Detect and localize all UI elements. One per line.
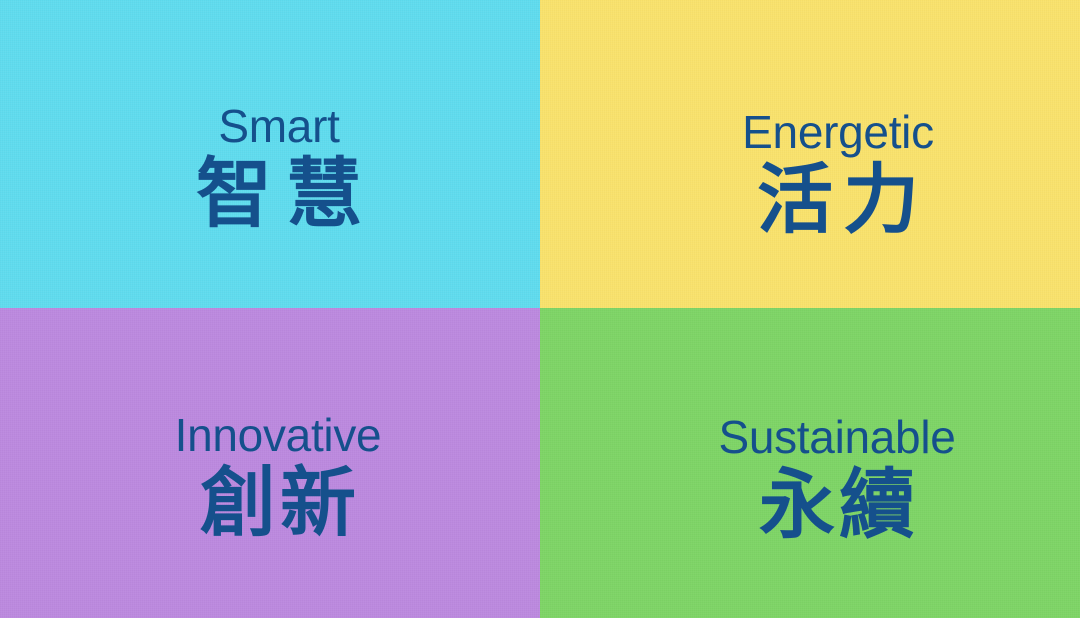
panel-sustainable-labels: Sustainable 永續 xyxy=(718,414,955,544)
panel-energetic-label-en: Energetic xyxy=(742,109,934,155)
panel-sustainable-label-en: Sustainable xyxy=(718,414,955,460)
panel-energetic-label-zh: 活力 xyxy=(747,163,929,239)
panel-smart-labels: Smart 智慧 xyxy=(182,103,376,233)
panel-sustainable-label-zh: 永續 xyxy=(755,468,919,544)
brand-values-grid: Smart 智慧 Energetic 活力 Innovative 創新 Sust… xyxy=(0,0,1080,618)
panel-sustainable: Sustainable 永續 xyxy=(540,308,1080,618)
panel-smart-label-en: Smart xyxy=(218,103,339,149)
panel-innovative-label-zh: 創新 xyxy=(196,466,360,542)
panel-energetic: Energetic 活力 xyxy=(540,0,1080,308)
panel-energetic-labels: Energetic 活力 xyxy=(742,109,934,239)
panel-innovative-label-en: Innovative xyxy=(175,412,382,458)
panel-smart-label-zh: 智慧 xyxy=(182,157,376,233)
panel-innovative-labels: Innovative 創新 xyxy=(175,412,382,542)
panel-smart: Smart 智慧 xyxy=(0,0,540,308)
panel-innovative: Innovative 創新 xyxy=(0,308,540,618)
